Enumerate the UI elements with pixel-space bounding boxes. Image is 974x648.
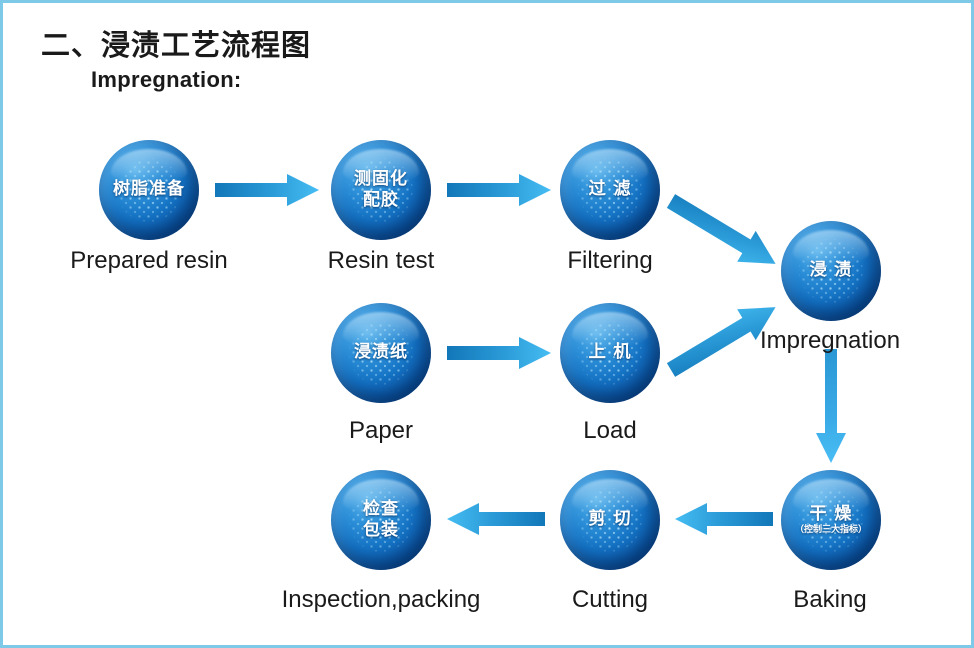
sphere-paper [331,303,431,403]
sphere-baking [781,470,881,570]
node-impregnation[interactable]: 浸 渍 [781,221,881,321]
sphere-prepared-resin [99,140,199,240]
caption-resin-test: Resin test [328,247,435,275]
arrow-resin-test-to-filtering [447,174,555,206]
caption-inspection-packing: Inspection,packing [282,586,481,614]
arrow-load-to-impregnation [671,358,801,436]
arrow-paper-to-load [447,337,555,369]
page-title-chinese: 二、浸渍工艺流程图 [41,29,641,62]
caption-baking: Baking [793,586,866,614]
sphere-filtering [560,140,660,240]
sphere-impregnation [781,221,881,321]
page-title: 二、浸渍工艺流程图 Impregnation: [41,29,641,93]
caption-cutting: Cutting [572,586,648,614]
node-paper[interactable]: 浸渍纸 [331,303,431,403]
caption-load: Load [583,417,636,445]
sphere-inspection-packing [331,470,431,570]
node-load[interactable]: 上 机 [560,303,660,403]
caption-prepared-resin: Prepared resin [70,247,227,275]
caption-impregnation: Impregnation [760,327,900,355]
node-baking[interactable]: 干 燥 （控制三大指标） [781,470,881,570]
arrow-impregnation-to-baking [815,349,847,467]
node-resin-test[interactable]: 测固化 配胶 [331,140,431,240]
caption-filtering: Filtering [567,247,652,275]
page-title-english: Impregnation: [91,67,641,93]
node-cutting[interactable]: 剪 切 [560,470,660,570]
arrow-cutting-to-inspection-packing [447,503,547,535]
node-inspection-packing[interactable]: 检查 包装 [331,470,431,570]
node-filtering[interactable]: 过 滤 [560,140,660,240]
node-prepared-resin[interactable]: 树脂准备 [99,140,199,240]
arrow-baking-to-cutting [675,503,775,535]
sphere-resin-test [331,140,431,240]
sphere-cutting [560,470,660,570]
sphere-load [560,303,660,403]
caption-paper: Paper [349,417,413,445]
arrow-prepared-resin-to-resin-test [215,174,323,206]
flowchart-canvas: 二、浸渍工艺流程图 Impregnation: [0,0,974,648]
